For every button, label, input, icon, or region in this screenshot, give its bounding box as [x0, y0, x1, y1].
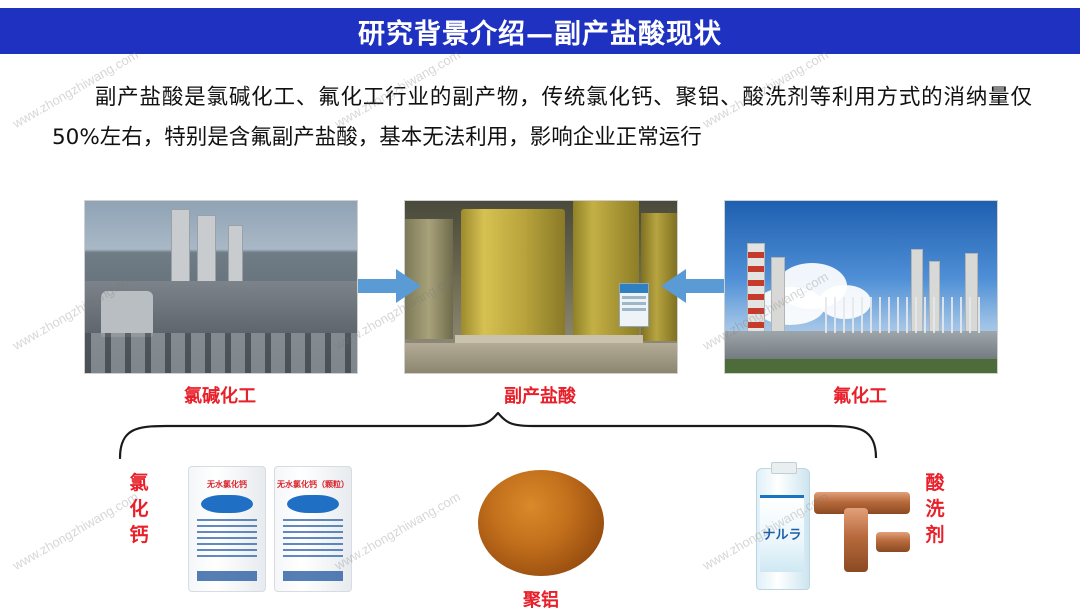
- bag-footer-decoration: [197, 571, 257, 581]
- tank-decoration: [101, 291, 153, 337]
- steam-cloud-decoration: [755, 287, 825, 325]
- fluorochemical-plant-photo: [724, 200, 998, 374]
- safety-sign-icon: [619, 283, 649, 327]
- product-label-char: 氯: [126, 470, 152, 496]
- product-label-char: 化: [126, 496, 152, 522]
- bag-logo-decoration: [287, 495, 339, 513]
- product-label-char: 洗: [922, 496, 948, 522]
- calcium-chloride-bags-photo: 无水氯化钙 无水氯化钙（颗粒）: [182, 458, 362, 598]
- page-title: 研究背景介绍—副产盐酸现状: [358, 12, 722, 51]
- acid-cleaner-bottle-and-copper-pipes-photo: ナルラ: [748, 458, 918, 598]
- pipe-rack-decoration: [825, 297, 985, 333]
- bag-footer-decoration: [283, 571, 343, 581]
- acid-storage-tanks-photo: [404, 200, 678, 374]
- granule-heap-decoration: [478, 470, 604, 576]
- curly-brace-connector: [118, 412, 878, 460]
- bag-title-text: 无水氯化钙: [189, 479, 265, 490]
- product-bag-decoration: 无水氯化钙（颗粒）: [274, 466, 352, 592]
- bag-body-text-decoration: [197, 519, 257, 559]
- cleaner-bottle-decoration: ナルラ: [756, 468, 810, 590]
- paragraph-text: 副产盐酸是氯碱化工、氟化工行业的副产物，传统氯化钙、聚铝、酸洗剂等利用方式的消纳…: [52, 85, 1032, 150]
- arrow-left-icon: [660, 268, 724, 304]
- caption-fluorochemical: 氟化工: [724, 382, 996, 408]
- caption-chlor-alkali: 氯碱化工: [84, 382, 356, 408]
- watermark: www.zhongzhiwang.com: [10, 489, 141, 573]
- slide-title-bar: 研究背景介绍—副产盐酸现状: [0, 8, 1080, 54]
- caption-byproduct-acid: 副产盐酸: [404, 382, 676, 408]
- ground-decoration: [725, 359, 997, 373]
- poly-aluminium-chloride-granules-photo: [468, 464, 614, 592]
- bottle-label-text: ナルラ: [760, 524, 804, 543]
- tower-decoration: [771, 257, 785, 341]
- ground-decoration: [405, 343, 677, 373]
- product-label-calcium-chloride: 氯 化 钙: [126, 470, 152, 548]
- chlor-alkali-plant-photo: [84, 200, 358, 374]
- product-label-acid-cleaner: 酸 洗 剂: [922, 470, 948, 548]
- bottle-cap-decoration: [771, 462, 797, 474]
- bottle-label-decoration: ナルラ: [760, 495, 804, 572]
- bag-body-text-decoration: [283, 519, 343, 559]
- tank-decoration: [461, 209, 565, 349]
- product-label-char: 酸: [922, 470, 948, 496]
- bag-title-text: 无水氯化钙（颗粒）: [275, 479, 351, 490]
- body-paragraph: 副产盐酸是氯碱化工、氟化工行业的副产物，传统氯化钙、聚铝、酸洗剂等利用方式的消纳…: [52, 78, 1032, 158]
- cooling-tower-decoration: [747, 243, 765, 341]
- product-label-char: 钙: [126, 522, 152, 548]
- product-label-poly-aluminium: 聚铝: [468, 586, 614, 612]
- product-label-char: 剂: [922, 522, 948, 548]
- product-bag-decoration: 无水氯化钙: [188, 466, 266, 592]
- arch-structure-decoration: [85, 333, 357, 373]
- bag-logo-decoration: [201, 495, 253, 513]
- arrow-right-icon: [358, 268, 422, 304]
- copper-pipe-fitting-decoration: [810, 474, 914, 584]
